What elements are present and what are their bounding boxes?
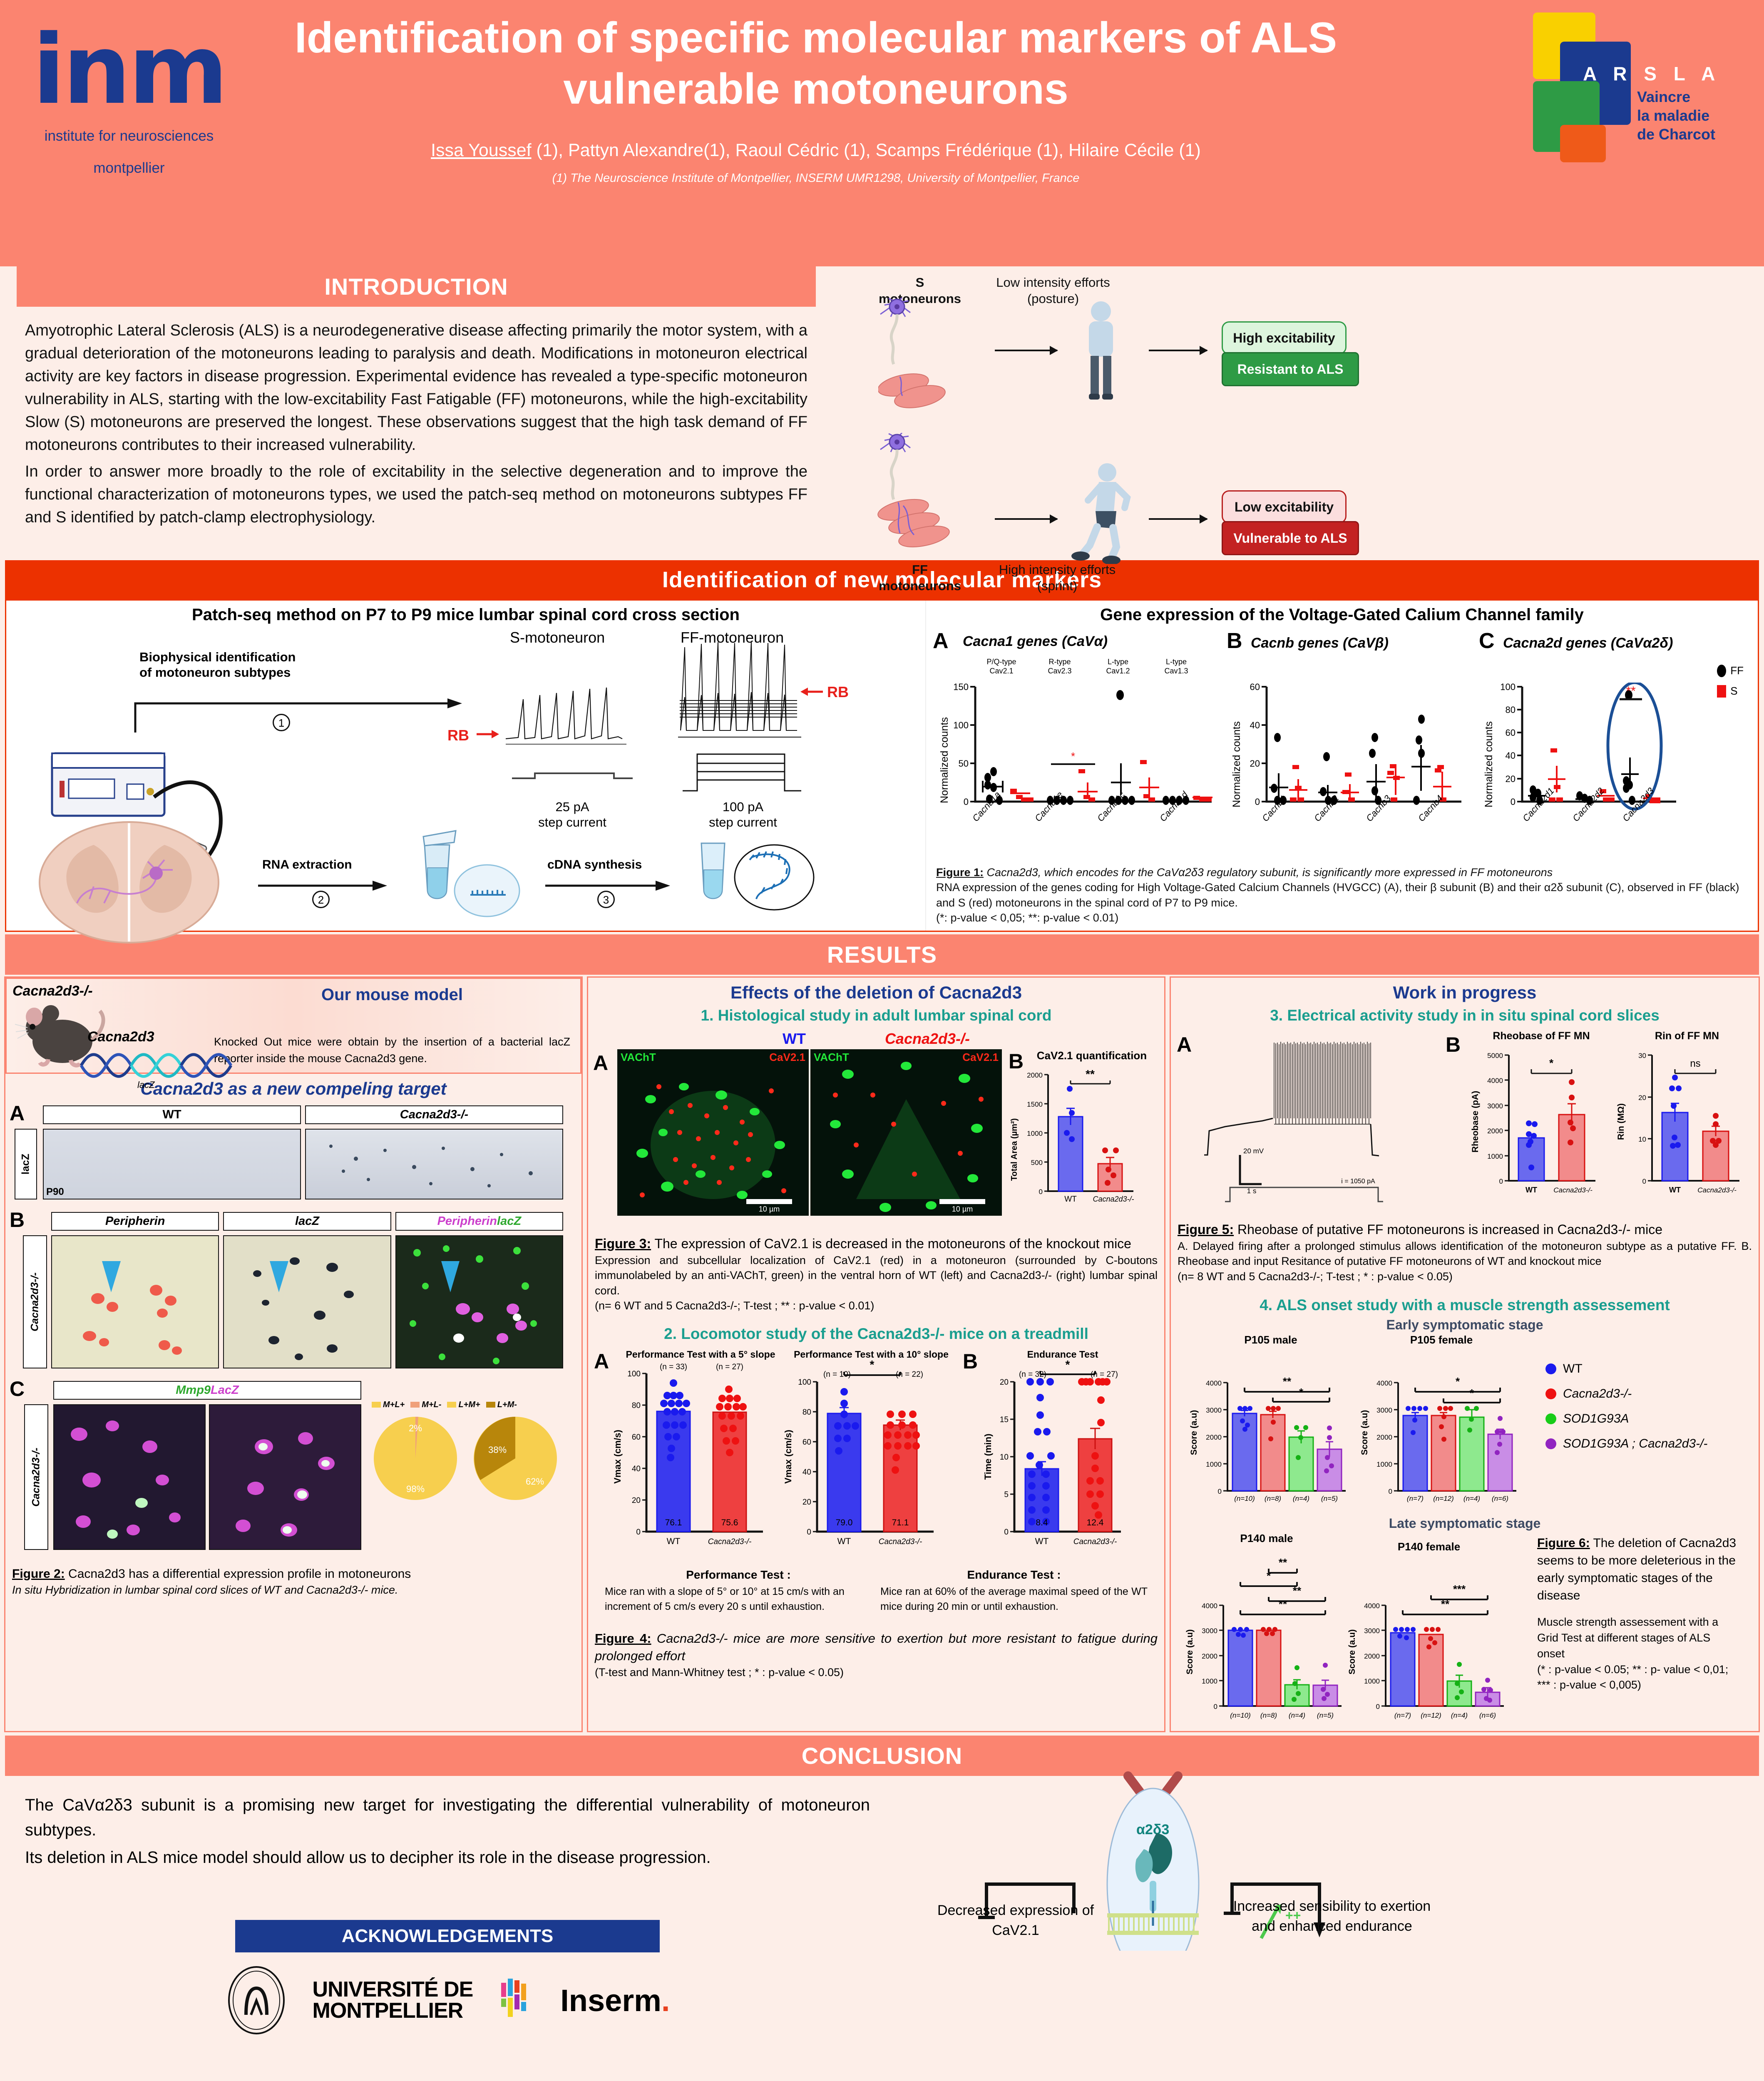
conclusion-right-caption: Increased sensibility to exertion and en… <box>1224 1897 1440 1936</box>
chart-performance-10deg: Performance Test with a 10° slope Vmax (… <box>784 1348 959 1557</box>
markers-section: Patch-seq method on P7 to P9 mice lumbar… <box>5 599 1759 932</box>
chart-c-plot: 100 80 60 40 20 0 <box>1497 683 1705 820</box>
step-current-right-1: 100 pA <box>685 799 801 815</box>
poster-root: inm institute for neurosciences montpell… <box>0 0 1764 2081</box>
label-cav21-ko: CaV2.1 <box>962 1051 999 1064</box>
figure6-caption: Figure 6: The deletion of Cacna2d3 seems… <box>1537 1535 1737 1693</box>
svg-text:100: 100 <box>954 720 969 730</box>
legend-label-s: S <box>1730 685 1737 698</box>
status-badge-high-excitability: High excitability <box>1222 321 1347 355</box>
micrograph-peripherin-cells <box>52 1236 218 1368</box>
schematic-high-effort-2: (sprint) <box>970 578 1145 594</box>
results-band: RESULTS <box>5 934 1759 975</box>
svg-text:71.1: 71.1 <box>892 1518 909 1527</box>
chart-title-a: Cacna1 genes (CaVα) <box>963 633 1108 650</box>
chart-p105-male: P105 male Score (a.u) 4000 3000 2000 100… <box>1188 1333 1362 1512</box>
chart-a-toplabel-2: R-typeCav2.3 <box>1031 658 1089 675</box>
svg-text:8.4: 8.4 <box>1036 1518 1048 1527</box>
figure2-caption-label: Figure 2: <box>12 1567 65 1581</box>
pie2-value-1: 62% <box>526 1476 544 1487</box>
pie2-swatch-1 <box>447 1402 456 1408</box>
svg-text:P140 male: P140 male <box>1240 1532 1293 1545</box>
electrophysiology-panel: A 20 mV 1 s i = 1050 pA B <box>1171 1030 1759 1209</box>
svg-text:(n=4): (n=4) <box>1289 1711 1305 1719</box>
micrograph-vacht-ko: 10 µm VAChT CaV2.1 <box>810 1049 1002 1216</box>
svg-text:*: * <box>1071 750 1075 762</box>
svg-text:60: 60 <box>632 1433 641 1442</box>
svg-text:**: ** <box>1279 1556 1287 1569</box>
micrograph-lacz-ko-dots <box>306 1130 562 1199</box>
chart-b-ylabel: Normalized counts <box>1231 703 1243 807</box>
status-badge-vulnerable: Vulnerable to ALS <box>1222 521 1359 555</box>
quant-title: CaV2.1 quantification <box>1009 1049 1158 1062</box>
panel-letter-b: B <box>1227 628 1242 653</box>
svg-text:Score (a.u): Score (a.u) <box>1189 1410 1199 1455</box>
author-presenting: Issa Youssef <box>431 140 531 160</box>
svg-text:0: 0 <box>1511 797 1516 807</box>
svg-text:**: ** <box>1086 1068 1095 1080</box>
svg-text:(n = 33): (n = 33) <box>660 1363 687 1371</box>
col3-title: Work in progress <box>1171 978 1759 1003</box>
pie2-legend-2: L+M- <box>486 1400 517 1410</box>
panel-a-row-label: lacZ <box>15 1129 37 1199</box>
schematic-high-effort: High intensity efforts (sprint) <box>970 562 1145 594</box>
svg-text:5: 5 <box>1004 1490 1009 1499</box>
gene-expression-panel: Gene expression of the Voltage-Gated Cal… <box>926 601 1758 931</box>
svg-text:0: 0 <box>636 1528 641 1537</box>
pie-chart-1: 2% 98% <box>372 1415 459 1502</box>
um-line-1: UNIVERSITÉ DE <box>313 1979 473 2000</box>
svg-text:2000: 2000 <box>1376 1433 1392 1441</box>
svg-text:4000: 4000 <box>1487 1077 1503 1085</box>
svg-text:P140 female: P140 female <box>1398 1540 1460 1553</box>
alpha2delta3-label: α2δ3 <box>1136 1822 1169 1838</box>
svg-text:(n = 32): (n = 32) <box>1019 1370 1046 1379</box>
step-number-2: 2 <box>312 891 330 908</box>
pie1-value-2: 2% <box>409 1423 422 1433</box>
universite-montpellier-seal-icon <box>225 1965 288 2036</box>
rna-extraction-label: RNA extraction <box>262 857 352 872</box>
s-motoneuron-trace <box>502 649 643 749</box>
svg-text:Rheobase (pA): Rheobase (pA) <box>1471 1091 1480 1152</box>
svg-text:0: 0 <box>1214 1703 1217 1711</box>
mouse-model-title: Our mouse model <box>210 986 574 1004</box>
panel-b-header-peripherin: Peripherin <box>51 1212 219 1231</box>
pie1-swatch-2 <box>410 1402 420 1408</box>
pie2-swatch-2 <box>486 1402 495 1408</box>
svg-text:P105 female: P105 female <box>1410 1334 1473 1346</box>
panel-a-histology: A <box>588 1049 1164 1224</box>
conclusion-left-caption-1: Decreased expression of <box>928 1901 1103 1921</box>
chart-a-ylabel: Normalized counts <box>939 695 951 803</box>
svg-text:60: 60 <box>802 1438 811 1447</box>
svg-text:WT: WT <box>1064 1195 1077 1204</box>
legend-label-sod1: SOD1G93A <box>1563 1412 1629 1426</box>
page-title: Identification of specific molecular mar… <box>258 12 1374 114</box>
svg-text:4000: 4000 <box>1206 1379 1222 1387</box>
chart-cav21-quantification: Total Area (µm²) 2000 1500 1000 500 0 <box>1009 1066 1158 1216</box>
chart-a-toplabel-4: L-typeCav1.3 <box>1147 658 1205 675</box>
svg-text:1000: 1000 <box>1027 1130 1043 1137</box>
svg-text:(n = 27): (n = 27) <box>1091 1370 1118 1379</box>
figure1-caption-label: Figure 1: <box>936 866 984 879</box>
endurance-test-body: Mice ran at 60% of the average maximal s… <box>880 1584 1148 1614</box>
legend-marker-s <box>1717 685 1726 698</box>
author-list: Issa Youssef (1), Pattyn Alexandre(1), R… <box>258 140 1374 161</box>
svg-text:4000: 4000 <box>1202 1602 1217 1610</box>
svg-text:0: 0 <box>1004 1528 1009 1537</box>
panel-letter-b-fig4: B <box>963 1349 978 1373</box>
pie2-legend-label-2: L+M- <box>497 1400 517 1410</box>
conclusion-section: The CaVα2δ3 subunit is a promising new t… <box>0 1776 1764 2036</box>
recording-trace: 20 mV 1 s i = 1050 pA <box>1200 1030 1450 1205</box>
figure2-caption-lead: Cacna2d3 has a differential expression p… <box>65 1567 411 1581</box>
svg-text:(n=5): (n=5) <box>1321 1495 1338 1502</box>
svg-text:20: 20 <box>1000 1378 1009 1387</box>
svg-text:20: 20 <box>802 1498 811 1507</box>
figure3-caption-label: Figure 3: <box>595 1236 651 1251</box>
early-stage-label: Early symptomatic stage <box>1171 1317 1759 1333</box>
legend-dot-sod1 <box>1545 1413 1556 1424</box>
legend-label-wt: WT <box>1563 1362 1583 1376</box>
svg-text:Cacna2d3-/-: Cacna2d3-/- <box>879 1537 922 1546</box>
legend-label-ko: Cacna2d3-/- <box>1563 1387 1632 1401</box>
svg-text:75.6: 75.6 <box>721 1518 738 1527</box>
svg-text:1000: 1000 <box>1364 1677 1380 1685</box>
pie2-value-2: 38% <box>488 1445 507 1455</box>
panel-a-lacz: A WT Cacna2d3-/- lacZ P90 <box>5 1101 581 1205</box>
svg-text:(n=8): (n=8) <box>1260 1711 1277 1719</box>
svg-text:*: * <box>1456 1375 1460 1388</box>
svg-text:(n=10): (n=10) <box>1230 1711 1251 1719</box>
step-current-right-2: step current <box>685 815 801 830</box>
panel-b-header-merge-a: Peripherin <box>437 1214 497 1228</box>
chart-panel-c: C Cacna2d genes (CaVα2δ) FF S Norma <box>1479 628 1745 862</box>
svg-text:**: ** <box>1279 1598 1287 1610</box>
svg-text:(n=7): (n=7) <box>1394 1711 1411 1719</box>
standing-person-icon <box>1074 300 1128 404</box>
legend-marker-ff <box>1717 665 1726 677</box>
svg-text:**: ** <box>1283 1375 1292 1388</box>
svg-text:(n=4): (n=4) <box>1451 1711 1468 1719</box>
gene-label: Cacna2d3 <box>87 1029 154 1045</box>
results-column-1: Cacna2d3-/- Cacna2d3 <box>4 976 583 1733</box>
col2-wt-label: WT <box>783 1030 806 1048</box>
arsla-tagline: Vaincre la maladie de Charcot <box>1637 87 1715 144</box>
chart-a-toplabel-3: L-typeCav1.2 <box>1089 658 1147 675</box>
step-current-trace-left <box>510 762 635 799</box>
svg-text:Cacna2d3-/-: Cacna2d3-/- <box>1553 1186 1593 1194</box>
figure1-caption: Figure 1: Cacna2d3, which encodes for th… <box>930 862 1754 931</box>
col2-sub2: 2. Locomotor study of the Cacna2d3-/- mi… <box>588 1321 1164 1343</box>
svg-text:0: 0 <box>1389 1487 1392 1495</box>
panel-letter-b-col1: B <box>10 1208 25 1232</box>
arsla-tagline-2: la maladie <box>1637 106 1715 125</box>
inserm-text: Inserm. <box>560 1983 670 2018</box>
panel-letter-a-col2: A <box>593 1051 608 1075</box>
figure5-caption-body: A. Delayed firing after a prolonged stim… <box>1178 1239 1752 1269</box>
svg-text:0: 0 <box>1642 1177 1646 1185</box>
svg-text:15: 15 <box>1000 1415 1009 1424</box>
svg-text:0: 0 <box>1218 1487 1222 1495</box>
figure2-caption-body: In situ Hybridization in lumbar spinal c… <box>12 1582 575 1597</box>
svg-text:*: * <box>1299 1386 1304 1398</box>
arrow-icon-person-to-result-ff <box>1149 518 1207 520</box>
svg-text:79.0: 79.0 <box>836 1518 853 1527</box>
affiliation: (1) The Neuroscience Institute of Montpe… <box>258 171 1374 185</box>
micrograph-lacz-ko <box>305 1129 563 1199</box>
svg-text:2000: 2000 <box>1027 1071 1043 1079</box>
svg-text:2000: 2000 <box>1487 1127 1503 1135</box>
chart-endurance: Endurance Test Time (min) 20 15 10 5 0 <box>984 1348 1150 1557</box>
label-cav21-wt: CaV2.1 <box>769 1051 805 1064</box>
legend-dot-ko <box>1545 1388 1556 1399</box>
schematic-low-effort-1: Low intensity efforts <box>970 275 1136 291</box>
svg-text:P105 male: P105 male <box>1244 1334 1297 1346</box>
pie1-legend-label-2: M+L- <box>422 1400 441 1410</box>
figure4-caption-lead: Cacna2d3-/- mice are more sensitive to e… <box>595 1631 1158 1663</box>
panel-letter-c: C <box>1479 628 1495 653</box>
spinal-cord-icon <box>31 820 231 949</box>
svg-text:0: 0 <box>1376 1703 1380 1711</box>
arsla-letters: A R S L A <box>1583 62 1721 85</box>
inserm-label: Inserm <box>560 1983 661 2018</box>
svg-text:20: 20 <box>1638 1094 1646 1102</box>
micrograph-mmp9-1 <box>53 1404 206 1550</box>
arrow-icon-rb-left <box>476 728 501 741</box>
svg-text:3000: 3000 <box>1364 1627 1380 1635</box>
panel-b-quantification: B CaV2.1 quantification Total Area (µm²)… <box>1009 1049 1158 1216</box>
arrow-icon-s-to-person <box>995 350 1057 351</box>
panel-a-header-ko: Cacna2d3-/- <box>305 1105 563 1124</box>
running-person-icon <box>1070 462 1145 564</box>
chart-title-b: Cacnb genes (CaVβ) <box>1251 635 1389 651</box>
schematic-ff-label-2: motoneurons <box>866 578 974 594</box>
svg-text:WT: WT <box>837 1537 851 1546</box>
figure3-caption-stats: (n= 6 WT and 5 Cacna2d3-/-; T-test ; ** … <box>595 1298 1158 1313</box>
panel-c-header-a: Mmp9 <box>176 1383 211 1397</box>
figure4-caption: Figure 4: Cacna2d3-/- mice are more sens… <box>588 1628 1164 1681</box>
patchseq-diagram: Biophysical identification of motoneuron… <box>6 624 925 916</box>
gene-expression-title: Gene expression of the Voltage-Gated Cal… <box>930 606 1754 624</box>
micrograph-vacht-ko-cells: 10 µm <box>810 1049 1002 1216</box>
svg-text:2000: 2000 <box>1202 1652 1217 1660</box>
pie1-legend-2: M+L- <box>410 1400 441 1410</box>
svg-text:2000: 2000 <box>1206 1433 1222 1441</box>
test-descriptions: Performance Test : Mice ran with a slope… <box>588 1562 1164 1614</box>
mouse-genotype-label: Cacna2d3-/- <box>12 983 204 999</box>
svg-text:1500: 1500 <box>1027 1100 1043 1108</box>
label-vacht-wt: VAChT <box>621 1051 656 1064</box>
svg-text:80: 80 <box>802 1408 811 1417</box>
micrograph-peripherin <box>51 1235 219 1368</box>
svg-text:0: 0 <box>1499 1177 1503 1185</box>
svg-text:(n=4): (n=4) <box>1463 1495 1480 1502</box>
svg-text:4000: 4000 <box>1376 1379 1392 1387</box>
svg-text:0: 0 <box>1255 797 1260 807</box>
universite-montpellier-text: UNIVERSITÉ DE MONTPELLIER <box>313 1979 473 2021</box>
pie1-swatch-1 <box>372 1402 381 1408</box>
micrograph-mmp9-2-cells <box>210 1405 360 1549</box>
cdna-synthesis-label: cDNA synthesis <box>547 857 642 872</box>
chart-p140-female: P140 female Score (a.u) 4000 3000 2000 1… <box>1346 1540 1521 1727</box>
svg-text:(n=12): (n=12) <box>1421 1711 1441 1719</box>
patchseq-biophysical-label: Biophysical identification of motoneuron… <box>139 649 398 680</box>
step-number-3: 3 <box>597 891 615 908</box>
svg-text:(n=12): (n=12) <box>1433 1495 1454 1502</box>
author-others: (1), Pattyn Alexandre(1), Raoul Cédric (… <box>532 140 1201 160</box>
svg-text:3000: 3000 <box>1487 1102 1503 1110</box>
pie2-legend-1: L+M+ <box>447 1400 480 1410</box>
col2-ko-label: Cacna2d3-/- <box>885 1030 970 1048</box>
conclusion-text-block: The CaVα2δ3 subunit is a promising new t… <box>0 1776 895 2036</box>
schematic-high-effort-1: High intensity efforts <box>970 562 1145 578</box>
svg-text:500: 500 <box>1031 1159 1043 1167</box>
introduction-schematic: S motoneurons Low intensity efforts (pos… <box>832 266 1764 558</box>
svg-text:(n = 22): (n = 22) <box>896 1370 923 1379</box>
panel-c-header: Mmp9LacZ <box>53 1381 361 1400</box>
svg-text:**: ** <box>1626 684 1636 698</box>
late-stage-charts: P140 male Score (a.u) 4000 3000 2000 100… <box>1171 1531 1759 1731</box>
svg-text:*: * <box>1066 1358 1070 1371</box>
figure3-caption: Figure 3: The expression of CaV2.1 is de… <box>588 1233 1164 1315</box>
col2-sub1: 1. Histological study in adult lumbar sp… <box>588 1003 1164 1024</box>
rb-label-left: RB <box>447 727 469 744</box>
panel-b-header-merge: PeripherinlacZ <box>395 1212 563 1231</box>
inm-logo: inm institute for neurosciences montpell… <box>31 25 227 181</box>
conclusion-right-caption-2: and enhanced endurance <box>1224 1917 1440 1937</box>
svg-text:12.4: 12.4 <box>1087 1518 1104 1527</box>
micrograph-vacht-wt-cells: 10 µm <box>617 1049 809 1216</box>
svg-text:i = 1050 pA: i = 1050 pA <box>1341 1178 1375 1185</box>
introduction-left: INTRODUCTION Amyotrophic Lateral Scleros… <box>0 266 832 558</box>
micrograph-merge <box>395 1235 563 1368</box>
figure1-charts: A Cacna1 genes (CaVα) P/Q-typeCav2.1 R-t… <box>930 624 1754 862</box>
results-section: Cacna2d3-/- Cacna2d3 <box>0 976 1764 1733</box>
svg-text:Cacna2d3-/-: Cacna2d3-/- <box>708 1537 752 1546</box>
svg-text:80: 80 <box>632 1401 641 1410</box>
svg-text:40: 40 <box>802 1468 811 1477</box>
svg-text:*: * <box>870 1358 875 1371</box>
patchseq-title: Patch-seq method on P7 to P9 mice lumbar… <box>6 606 925 624</box>
legend-dot-double <box>1545 1438 1556 1449</box>
panel-b-row-label: Cacna2d3-/- <box>23 1235 47 1368</box>
introduction-paragraph-2: In order to answer more broadly to the r… <box>17 457 816 529</box>
chart-p105-female: P105 female Score (a.u) 4000 3000 2000 1… <box>1358 1333 1533 1512</box>
svg-text:2000: 2000 <box>1364 1652 1380 1660</box>
introduction-paragraph-1: Amyotrophic Lateral Sclerosis (ALS) is a… <box>17 307 816 457</box>
svg-text:(n=8): (n=8) <box>1265 1495 1281 1502</box>
figure5-caption-label: Figure 5: <box>1178 1222 1234 1237</box>
svg-text:Rin of FF MN: Rin of FF MN <box>1655 1030 1719 1042</box>
muscle-fiber-icon-s <box>878 360 978 414</box>
svg-text:100: 100 <box>1500 683 1516 692</box>
svg-text:10: 10 <box>1000 1453 1009 1462</box>
svg-text:10 µm: 10 µm <box>759 1205 780 1213</box>
figure5-caption: Figure 5: Rheobase of putative FF motone… <box>1171 1219 1759 1286</box>
figure4-caption-label: Figure 4: <box>595 1631 651 1646</box>
rb-label-right: RB <box>827 683 849 701</box>
svg-text:60: 60 <box>1506 728 1516 738</box>
svg-text:4000: 4000 <box>1364 1602 1380 1610</box>
early-stage-charts: P105 male Score (a.u) 4000 3000 2000 100… <box>1171 1333 1759 1512</box>
svg-text:(n = 27): (n = 27) <box>716 1363 743 1371</box>
pie1-legend-label-1: M+L+ <box>383 1400 405 1410</box>
panel-c-row-label: Cacna2d3-/- <box>24 1404 48 1550</box>
figure1-caption-stats: (*: p-value < 0,05; **: p-value < 0.01) <box>936 910 1748 925</box>
svg-text:Performance Test with a 5° slo: Performance Test with a 5° slope <box>626 1349 775 1360</box>
svg-text:Cacna2d3-/-: Cacna2d3-/- <box>1073 1537 1117 1546</box>
figure5-caption-stats: (n= 8 WT and 5 Cacna2d3-/-; T-test ; * :… <box>1178 1269 1752 1284</box>
panel-letter-b-col2: B <box>1009 1049 1024 1073</box>
endurance-test-title: Endurance Test : <box>880 1568 1148 1582</box>
svg-text:WT: WT <box>667 1537 681 1546</box>
panel-b-header-merge-b: lacZ <box>497 1214 521 1228</box>
svg-text:Rheobase of FF MN: Rheobase of FF MN <box>1493 1030 1590 1042</box>
panel-b-header-lacz: lacZ <box>223 1212 391 1231</box>
mouse-model-box: Cacna2d3-/- Cacna2d3 <box>5 978 581 1074</box>
performance-test-body: Mice ran with a slope of 5° or 10° at 15… <box>605 1584 872 1614</box>
svg-text:40: 40 <box>1506 750 1516 761</box>
mouse-model-text: Knocked Out mice were obtain by the inse… <box>210 1004 574 1067</box>
poster-header: inm institute for neurosciences montpell… <box>0 0 1764 266</box>
svg-text:(n=7): (n=7) <box>1407 1495 1424 1502</box>
svg-text:20: 20 <box>1250 758 1260 769</box>
patchseq-biophysical-1: Biophysical identification <box>139 649 398 665</box>
svg-text:30: 30 <box>1638 1052 1646 1060</box>
acknowledgements-band: ACKNOWLEDGEMENTS <box>235 1920 660 1952</box>
svg-text:*: * <box>1549 1057 1554 1069</box>
svg-text:(n=6): (n=6) <box>1492 1495 1508 1502</box>
svg-text:ns: ns <box>1690 1058 1700 1069</box>
svg-text:1000: 1000 <box>1376 1460 1392 1468</box>
schematic-ff-label-1: FF <box>866 562 974 578</box>
figure5-caption-lead: Rheobase of putative FF motoneurons is i… <box>1234 1222 1662 1237</box>
chart-title-c: Cacna2d genes (CaVα2δ) <box>1503 635 1673 651</box>
pie-chart-2: 38% 62% <box>472 1415 559 1502</box>
svg-text:Vmax (cm/s): Vmax (cm/s) <box>613 1430 623 1484</box>
micrograph-merge-cells <box>396 1236 562 1368</box>
chart-rheobase: Rheobase of FF MN Rheobase (pA) 5000 400… <box>1471 1030 1612 1205</box>
conclusion-right-caption-1: Increased sensibility to exertion <box>1224 1897 1440 1917</box>
svg-text:Time (min): Time (min) <box>984 1433 993 1480</box>
micrograph-lacz-wt: P90 <box>43 1129 301 1199</box>
figure2-caption: Figure 2: Cacna2d3 has a differential ex… <box>5 1564 581 1599</box>
figure6-caption-stats: (* : p-value < 0.05; ** : p- value < 0,0… <box>1537 1662 1737 1694</box>
micrograph-lacz-cells <box>224 1236 390 1368</box>
conclusion-paragraph-1: The CaVα2δ3 subunit is a promising new t… <box>25 1793 870 1843</box>
figure1-caption-body: RNA expression of the genes coding for H… <box>936 880 1748 910</box>
svg-text:20: 20 <box>1506 774 1516 784</box>
panel-letter-a: A <box>933 628 949 653</box>
svg-text:50: 50 <box>959 758 969 769</box>
svg-text:20 mV: 20 mV <box>1243 1147 1264 1155</box>
svg-text:150: 150 <box>954 683 969 692</box>
svg-text:1 s: 1 s <box>1247 1187 1257 1195</box>
um-line-2: MONTPELLIER <box>313 2000 473 2021</box>
age-label-wt: P90 <box>46 1186 64 1198</box>
figure6-caption-body: Muscle strength assessement with a Grid … <box>1537 1614 1737 1661</box>
svg-text:60: 60 <box>1250 683 1260 692</box>
pie1-value-1: 98% <box>406 1484 425 1494</box>
svg-text:Cacna2d3-/-: Cacna2d3-/- <box>1697 1186 1737 1194</box>
figure4-caption-stats: (T-test and Mann-Whitney test ; * : p-va… <box>595 1665 1158 1680</box>
svg-text:0: 0 <box>807 1528 811 1537</box>
micrograph-mmp9-1-cells <box>54 1405 205 1549</box>
svg-text:(n=4): (n=4) <box>1293 1495 1309 1502</box>
svg-text:5000: 5000 <box>1487 1052 1503 1060</box>
patchseq-panel: Patch-seq method on P7 to P9 mice lumbar… <box>6 601 926 931</box>
